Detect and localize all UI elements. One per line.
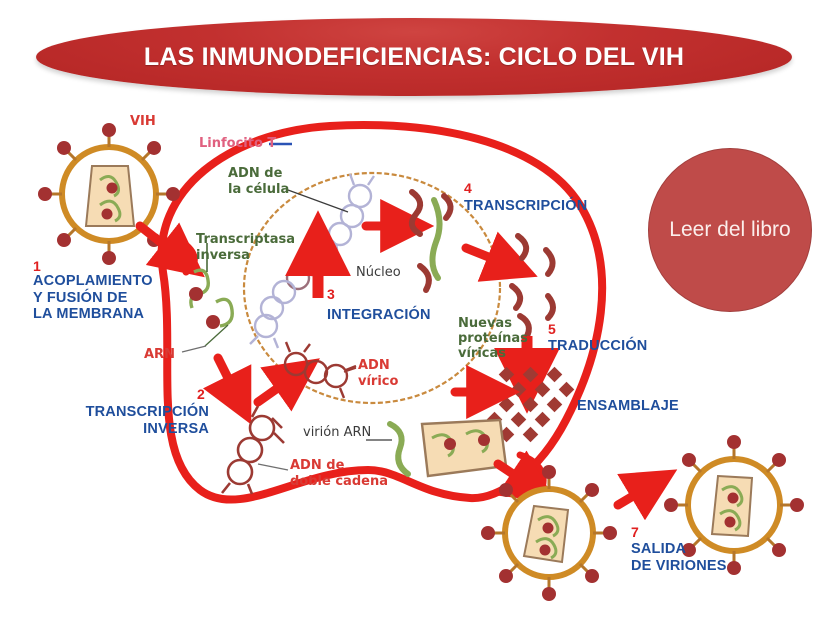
label-virion-arn: virión ARN bbox=[303, 425, 371, 441]
step-label-ensamblaje: ENSAMBLAJE bbox=[577, 398, 679, 415]
label-transcriptasa-inversa: Transcriptasa inversa bbox=[196, 232, 295, 263]
membrane-budding-notch bbox=[520, 455, 543, 492]
label-adn-doble-cadena: ADN de doble cadena bbox=[290, 458, 388, 489]
double-stranded-dna-molecule bbox=[222, 406, 284, 494]
arrow-reverse-transcription bbox=[218, 358, 236, 394]
step-label-acoplamiento: ACOPLAMIENTO Y FUSIÓN DE LA MEMBRANA bbox=[33, 273, 153, 323]
mrna-strands-nucleus bbox=[412, 192, 451, 290]
leader-adn-virico bbox=[344, 368, 356, 372]
slide-canvas: LAS INMUNODEFICIENCIAS: CICLO DEL VIH bbox=[0, 0, 828, 621]
label-adn-virico: ADN vírico bbox=[358, 358, 398, 389]
label-arn: ARN bbox=[144, 347, 175, 363]
leader-adn-celula bbox=[288, 190, 348, 212]
step-number-5: 5 bbox=[548, 322, 556, 336]
label-vih: VIH bbox=[130, 114, 156, 130]
step-number-2: 2 bbox=[197, 387, 205, 401]
step-label-integracion: INTEGRACIÓN bbox=[327, 307, 431, 324]
hiv-virion-incoming bbox=[38, 123, 180, 265]
title-banner: LAS INMUNODEFICIENCIAS: CICLO DEL VIH bbox=[36, 18, 792, 96]
step-label-transcripcion-inversa: TRANSCRIPCIÓN INVERSA bbox=[84, 404, 209, 437]
label-adn-de-la-celula: ADN de la célula bbox=[228, 166, 289, 197]
cellular-dna-chain-violet-lower bbox=[250, 281, 295, 348]
arrow-entry bbox=[140, 226, 178, 256]
membrane-fusion-notch bbox=[176, 238, 194, 272]
page-title: LAS INMUNODEFICIENCIAS: CICLO DEL VIH bbox=[134, 42, 694, 73]
step-label-salida-de-viriones: SALIDA DE VIRIONES bbox=[631, 541, 727, 574]
step-number-3: 3 bbox=[327, 287, 335, 301]
arrow-mrna-export bbox=[466, 248, 506, 264]
label-linfocito-t: Linfocito T bbox=[199, 136, 276, 152]
leader-arn bbox=[182, 346, 206, 352]
note-bubble-text: Leer del libro bbox=[669, 216, 790, 244]
cellular-dna-chain bbox=[315, 174, 374, 261]
leader-adn-doble-cadena bbox=[258, 464, 288, 470]
note-bubble[interactable]: Leer del libro bbox=[648, 148, 812, 312]
label-nucleo: Núcleo bbox=[356, 265, 401, 281]
hiv-virion-budding bbox=[481, 465, 617, 601]
arrow-assembly bbox=[498, 464, 528, 484]
viral-protein-diamonds bbox=[487, 367, 575, 443]
step-number-1: 1 bbox=[33, 259, 41, 273]
arrow-release bbox=[618, 487, 648, 505]
step-number-4: 4 bbox=[464, 181, 472, 195]
viral-dna-molecule bbox=[285, 342, 356, 398]
genomic-rna-strand bbox=[390, 424, 408, 474]
arrow-dna-to-nucleus bbox=[258, 378, 292, 402]
step-number-7: 7 bbox=[631, 525, 639, 539]
assembling-capsid bbox=[422, 420, 506, 476]
mrna-strand-green bbox=[432, 200, 439, 278]
step-label-traduccion: TRADUCCIÓN bbox=[548, 338, 647, 355]
label-nuevas-proteinas-viricas: Nuevas proteínas víricas bbox=[458, 317, 528, 362]
step-label-transcripcion: TRANSCRIPCIÓN bbox=[464, 198, 587, 215]
